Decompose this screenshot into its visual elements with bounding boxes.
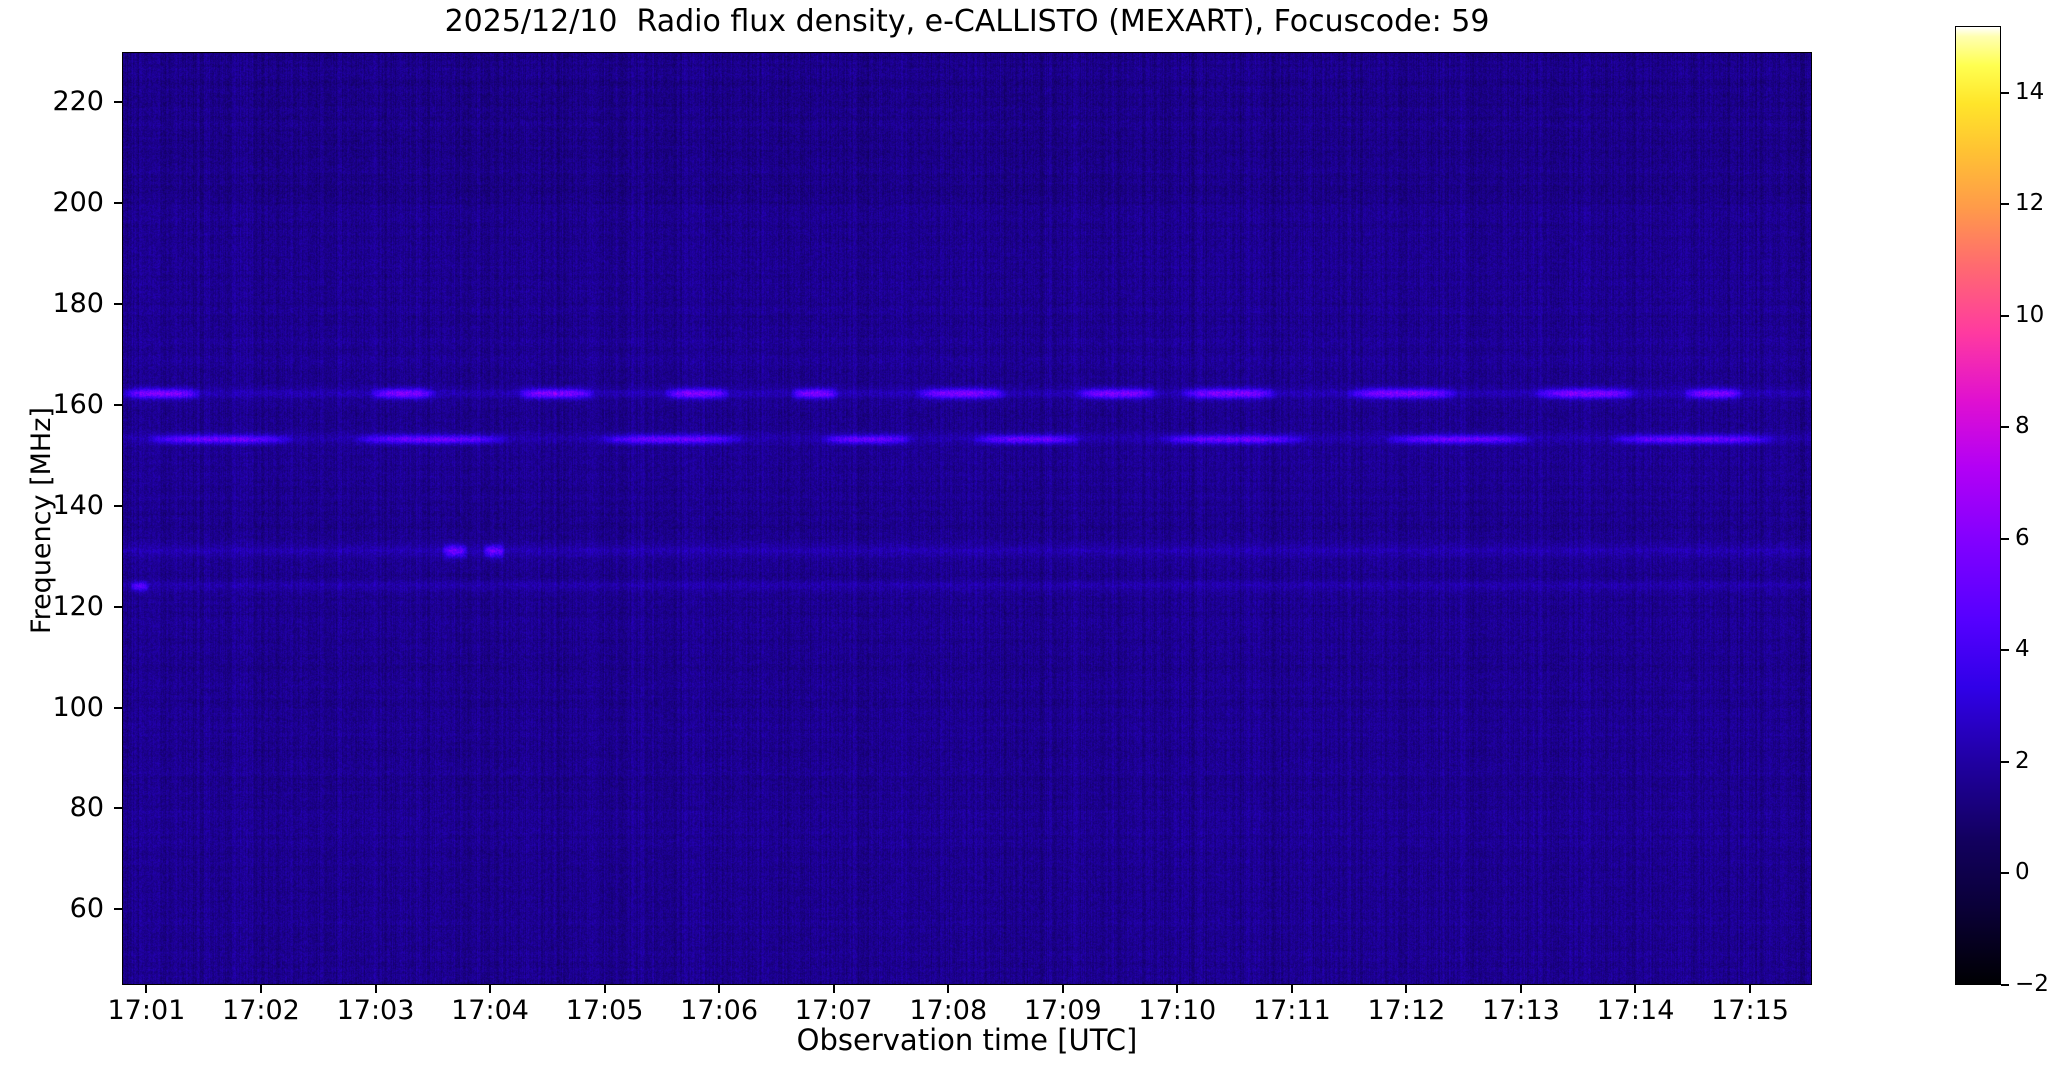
x-tick-mark (604, 985, 606, 993)
colorbar-tick-mark (2001, 872, 2009, 874)
y-tick-label: 200 (34, 189, 104, 216)
x-tick-mark (489, 985, 491, 993)
spectrogram-plot-area[interactable] (122, 52, 1812, 985)
x-tick-mark (1405, 985, 1407, 993)
y-tick-mark (114, 505, 122, 507)
colorbar-tick-mark (2001, 984, 2009, 986)
x-tick-mark (375, 985, 377, 993)
colorbar-tick-mark (2001, 315, 2009, 317)
x-tick-mark (1520, 985, 1522, 993)
colorbar-tick-label: 12 (2015, 192, 2044, 215)
spectrogram-figure: 2025/12/10 Radio flux density, e-CALLIST… (0, 0, 2066, 1067)
y-tick-mark (114, 606, 122, 608)
x-tick-label: 17:15 (1680, 997, 1820, 1024)
y-tick-label: 80 (34, 794, 104, 821)
x-tick-mark (947, 985, 949, 993)
colorbar-tick-mark (2001, 538, 2009, 540)
x-tick-mark (718, 985, 720, 993)
colorbar-tick-label: −2 (2015, 973, 2049, 996)
y-tick-mark (114, 707, 122, 709)
y-tick-mark (114, 303, 122, 305)
colorbar-tick-mark (2001, 203, 2009, 205)
colorbar-tick-label: 2 (2015, 750, 2030, 773)
x-tick-mark (260, 985, 262, 993)
y-tick-label: 60 (34, 895, 104, 922)
colorbar-tick-mark (2001, 92, 2009, 94)
colorbar-tick-label: 0 (2015, 861, 2030, 884)
y-axis-label: Frequency [MHz] (26, 407, 57, 634)
x-tick-mark (1634, 985, 1636, 993)
x-tick-mark (1062, 985, 1064, 993)
x-tick-mark (1749, 985, 1751, 993)
x-axis-label: Observation time [UTC] (122, 1023, 1812, 1057)
y-tick-label: 180 (34, 290, 104, 317)
colorbar-tick-label: 8 (2015, 415, 2030, 438)
y-tick-label: 100 (34, 694, 104, 721)
colorbar-tick-label: 6 (2015, 527, 2030, 550)
x-tick-mark (1291, 985, 1293, 993)
colorbar-tick-label: 4 (2015, 638, 2030, 661)
x-tick-mark (833, 985, 835, 993)
spectrogram-canvas (123, 53, 1811, 984)
colorbar-tick-mark (2001, 761, 2009, 763)
x-tick-mark (145, 985, 147, 993)
y-tick-mark (114, 908, 122, 910)
colorbar-tick-mark (2001, 426, 2009, 428)
y-tick-mark (114, 404, 122, 406)
colorbar-tick-label: 14 (2015, 81, 2044, 104)
figure-title: 2025/12/10 Radio flux density, e-CALLIST… (122, 2, 1812, 42)
y-tick-mark (114, 101, 122, 103)
colorbar-tick-label: 10 (2015, 304, 2044, 327)
colorbar[interactable] (1955, 26, 2001, 985)
x-tick-mark (1176, 985, 1178, 993)
y-tick-label: 220 (34, 88, 104, 115)
y-tick-mark (114, 807, 122, 809)
y-tick-mark (114, 202, 122, 204)
colorbar-tick-mark (2001, 649, 2009, 651)
